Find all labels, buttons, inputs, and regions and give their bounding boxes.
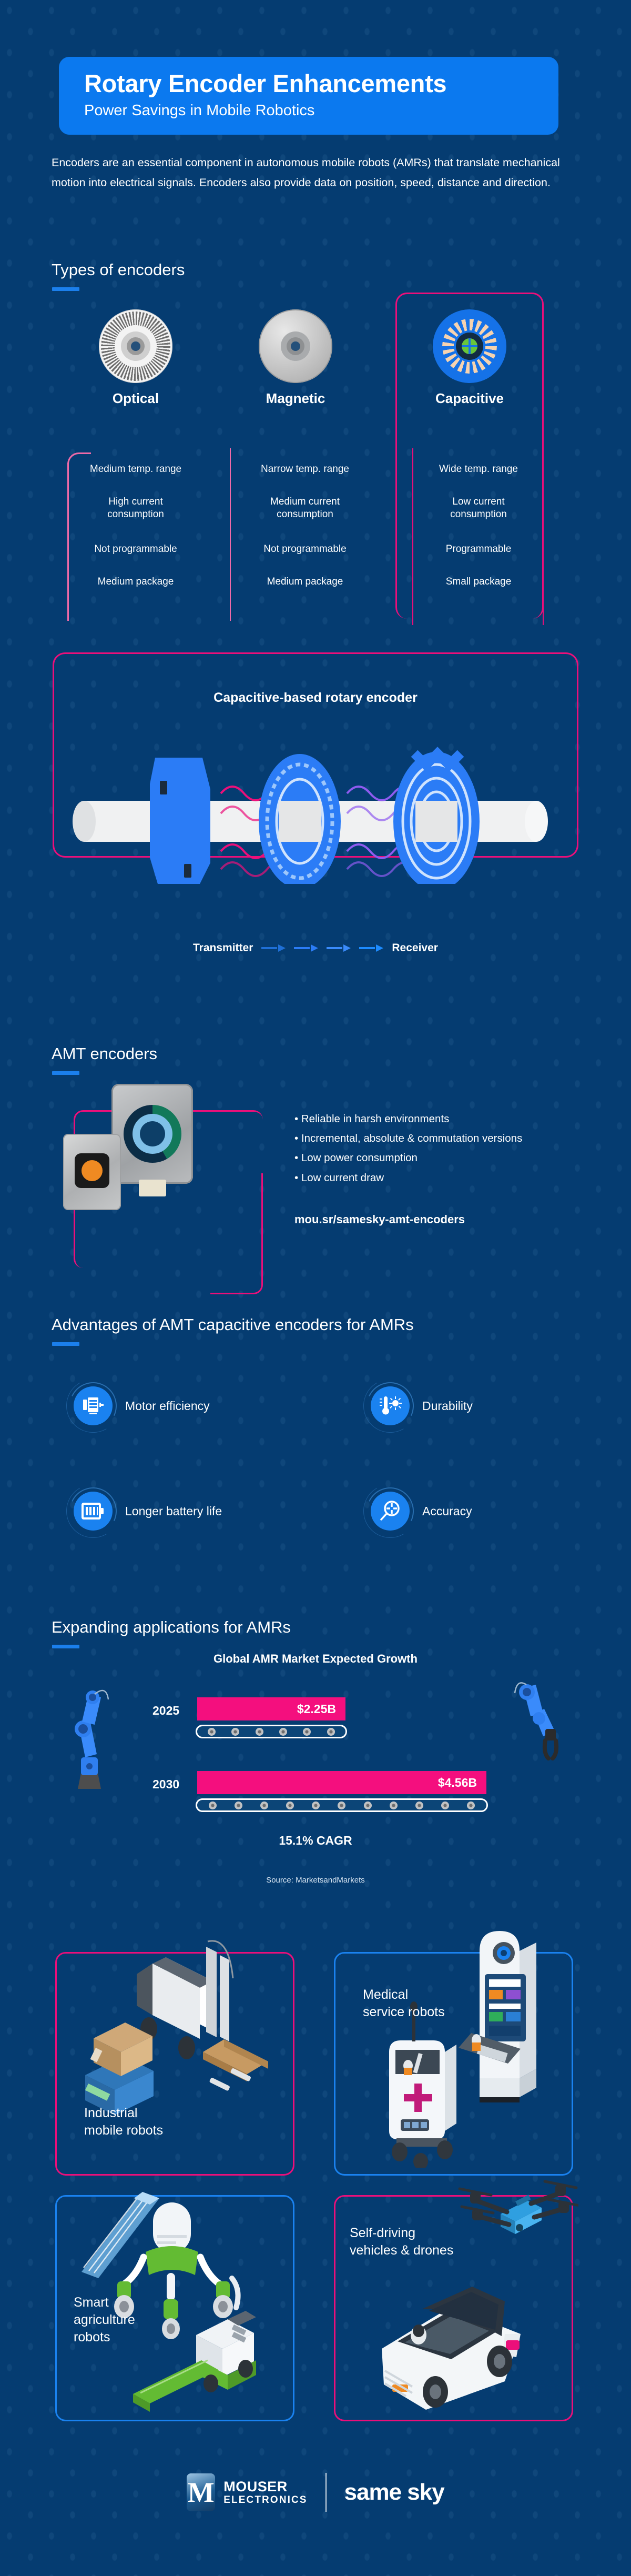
capacitive-disc-icon <box>433 309 506 383</box>
self-driving-vehicle-drone-illustration <box>347 2178 578 2426</box>
chart-source: Source: MarketsandMarkets <box>0 1876 631 1885</box>
mouser-name: MOUSER <box>223 2479 307 2494</box>
comparison-divider-2 <box>412 448 413 625</box>
bar-2025: $2.25B <box>197 1697 345 1720</box>
optical-disc-icon <box>99 309 172 383</box>
footer-divider <box>325 2473 327 2512</box>
title-card: Rotary Encoder Enhancements Power Saving… <box>59 57 558 135</box>
mouser-letter: M <box>188 2478 215 2507</box>
amt-encoders-link[interactable]: mou.sr/samesky-amt-encoders <box>294 1213 465 1226</box>
advantage-label: Longer battery life <box>125 1504 222 1518</box>
advantage-label: Durability <box>422 1399 473 1413</box>
section-rule-types <box>52 287 79 291</box>
page-subtitle: Power Savings in Mobile Robotics <box>84 102 533 119</box>
amt-photo-frame-lower <box>210 1173 263 1294</box>
section-rule-advantages <box>52 1342 79 1346</box>
robot-arm-left-icon <box>58 1678 121 1799</box>
list-item-label: Low power consumption <box>301 1152 418 1164</box>
advantage-label: Motor efficiency <box>125 1399 210 1413</box>
list-item: • Incremental, absolute & commutation ve… <box>294 1130 536 1147</box>
advantage-label: Accuracy <box>422 1504 472 1518</box>
amt-encoder-photo-large <box>111 1084 193 1184</box>
conveyor-2030 <box>196 1798 488 1812</box>
amt-benefit-list: • Reliable in harsh environments • Incre… <box>294 1110 536 1189</box>
list-item-label: Low current draw <box>301 1172 384 1184</box>
conveyor-2025 <box>196 1725 347 1738</box>
mouser-subname: ELECTRONICS <box>223 2494 307 2505</box>
table-cell: Medium package <box>252 576 358 588</box>
list-item: • Reliable in harsh environments <box>294 1110 536 1128</box>
bar-2030: $4.56B <box>197 1771 486 1794</box>
samesky-logo: same sky <box>344 2479 444 2505</box>
encoder-type-capacitive: Capacitive <box>406 309 533 407</box>
list-item-label: Incremental, absolute & commutation vers… <box>301 1132 522 1144</box>
mouser-logo: M MOUSER ELECTRONICS <box>187 2473 307 2511</box>
robot-arm-right-icon <box>513 1678 576 1799</box>
app-label-agriculture: Smart agriculture robots <box>74 2294 135 2346</box>
advantage-motor-efficiency: Motor efficiency <box>74 1386 210 1425</box>
thermometer-sun-icon <box>371 1386 410 1425</box>
app-label-selfdriving: Self-driving vehicles & drones <box>350 2225 453 2259</box>
amt-encoder-photo-small <box>63 1134 121 1210</box>
encoder-type-magnetic: Magnetic <box>232 309 359 407</box>
diagram-title: Capacitive-based rotary encoder <box>0 690 631 706</box>
page-title: Rotary Encoder Enhancements <box>84 71 533 97</box>
section-heading-types: Types of encoders <box>52 260 185 279</box>
flow-arrow-icon <box>359 944 383 952</box>
cagr-annotation: 15.1% CAGR <box>0 1834 631 1848</box>
encoder-label-magnetic: Magnetic <box>232 390 359 407</box>
table-cell: Programmable <box>426 543 531 556</box>
table-cell: High current consumption <box>83 496 188 521</box>
footer-logos: M MOUSER ELECTRONICS same sky <box>0 2473 631 2512</box>
comparison-frame-left <box>67 452 91 621</box>
table-cell: Narrow temp. range <box>252 463 358 476</box>
section-rule-amt <box>52 1071 79 1075</box>
list-item: • Low power consumption <box>294 1149 536 1166</box>
flow-arrow-icon <box>294 944 318 952</box>
table-cell: Wide temp. range <box>426 463 531 476</box>
table-cell: Low current consumption <box>426 496 531 521</box>
table-cell: Not programmable <box>83 543 188 556</box>
bar-year-2025: 2025 <box>152 1704 179 1718</box>
section-heading-applications: Expanding applications for AMRs <box>52 1618 291 1637</box>
comparison-divider-1 <box>230 448 231 621</box>
transmitter-receiver-flow: Transmitter Receiver <box>0 942 631 954</box>
magnifier-crosshair-icon <box>371 1492 410 1531</box>
flow-arrow-icon <box>327 944 351 952</box>
encoder-label-capacitive: Capacitive <box>406 390 533 407</box>
bar-value-2025: $2.25B <box>297 1702 336 1716</box>
list-item: • Low current draw <box>294 1169 536 1186</box>
table-cell: Not programmable <box>252 543 358 556</box>
encoder-label-optical: Optical <box>73 390 199 407</box>
table-cell: Medium package <box>83 576 188 588</box>
advantage-durability: Durability <box>371 1386 473 1425</box>
infographic-page: Rotary Encoder Enhancements Power Saving… <box>0 0 631 2576</box>
encoder-type-optical: Optical <box>73 309 199 407</box>
magnetic-disc-icon <box>259 309 332 383</box>
app-label-medical: Medical service robots <box>363 1986 445 2021</box>
table-cell: Medium current consumption <box>252 496 358 521</box>
transmitter-label: Transmitter <box>193 942 253 954</box>
advantage-battery-life: Longer battery life <box>74 1492 222 1531</box>
receiver-label: Receiver <box>392 942 438 954</box>
flow-arrow-icon <box>261 944 286 952</box>
advantage-accuracy: Accuracy <box>371 1492 472 1531</box>
intro-paragraph: Encoders are an essential component in a… <box>52 153 583 193</box>
chart-title: Global AMR Market Expected Growth <box>0 1652 631 1666</box>
section-heading-amt: AMT encoders <box>52 1044 157 1063</box>
table-cell: Medium temp. range <box>83 463 188 476</box>
bar-value-2030: $4.56B <box>438 1776 477 1790</box>
medical-service-robot-illustration <box>368 1920 578 2168</box>
comparison-divider-3 <box>543 448 544 625</box>
motor-icon <box>74 1386 113 1425</box>
bar-year-2030: 2030 <box>152 1777 179 1792</box>
mouser-wordmark: MOUSER ELECTRONICS <box>223 2479 307 2506</box>
battery-icon <box>74 1492 113 1531</box>
list-item-label: Reliable in harsh environments <box>301 1113 449 1125</box>
mouser-m-icon: M <box>187 2473 215 2511</box>
capacitive-encoder-illustration <box>53 726 578 884</box>
section-heading-advantages: Advantages of AMT capacitive encoders fo… <box>52 1315 414 1334</box>
section-rule-applications <box>52 1645 79 1648</box>
comparison-divider-0 <box>67 463 68 621</box>
table-cell: Small package <box>426 576 531 588</box>
app-label-industrial: Industrial mobile robots <box>84 2105 163 2139</box>
